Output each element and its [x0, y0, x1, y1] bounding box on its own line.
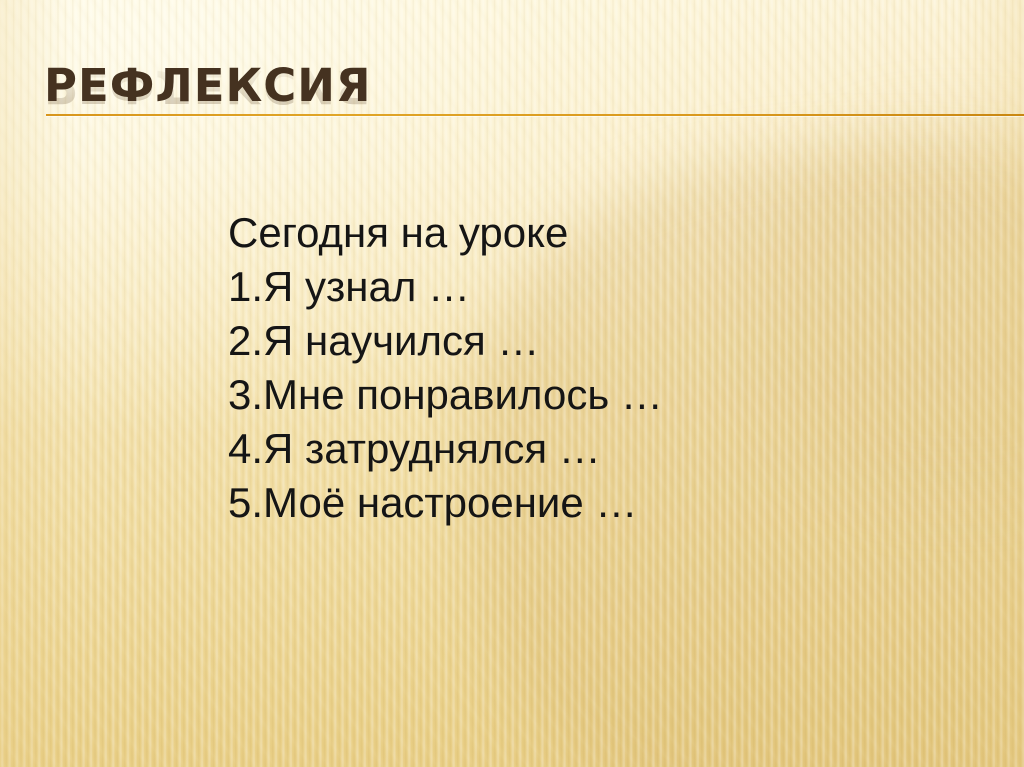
- slide-title: Рефлексия: [44, 58, 372, 114]
- slide-title-area: Рефлексия Рефлексия: [0, 58, 1024, 158]
- presentation-slide: Рефлексия Рефлексия Сегодня на уроке 1.Я…: [0, 0, 1024, 767]
- body-list-item-2: 2.Я научился …: [228, 314, 928, 368]
- slide-body-content: Сегодня на уроке 1.Я узнал … 2.Я научилс…: [228, 206, 928, 530]
- body-list-item-1: 1.Я узнал …: [228, 260, 928, 314]
- title-divider-rule: [46, 114, 1024, 116]
- body-list-item-3: 3.Мне понравилось …: [228, 368, 928, 422]
- body-list-item-4: 4.Я затруднялся …: [228, 422, 928, 476]
- body-intro-line: Сегодня на уроке: [228, 206, 928, 260]
- body-list-item-5: 5.Моё настроение …: [228, 476, 928, 530]
